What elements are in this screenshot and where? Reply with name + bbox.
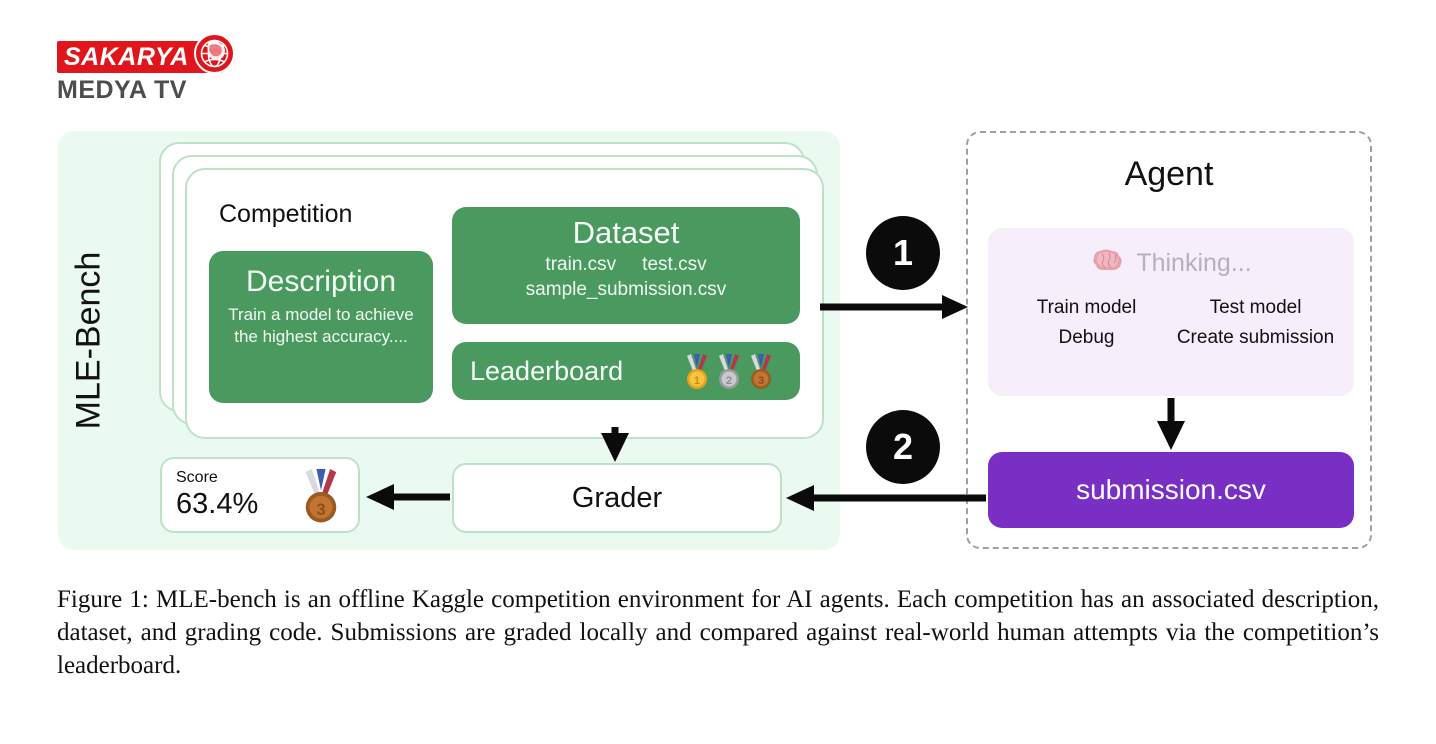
score-text-group: Score 63.4% <box>176 469 298 521</box>
mle-bench-label: MLE-Bench <box>58 131 120 550</box>
competition-title: Competition <box>219 200 352 229</box>
grader-label: Grader <box>572 482 662 515</box>
agent-action-test-model: Test model <box>1171 297 1340 319</box>
dataset-file-test: test.csv <box>642 254 706 275</box>
grader-box: Grader <box>452 463 782 533</box>
bronze-medal-icon: 3 <box>746 352 776 390</box>
leaderboard-medals: 1 2 <box>682 352 782 390</box>
thinking-row: Thinking... <box>988 228 1354 281</box>
gold-medal-icon: 1 <box>682 352 712 390</box>
dataset-file-sample-submission: sample_submission.csv <box>452 277 800 302</box>
leaderboard-title: Leaderboard <box>470 356 623 387</box>
agent-action-train-model: Train model <box>1002 297 1171 319</box>
dataset-title: Dataset <box>452 217 800 250</box>
silver-medal-icon: 2 <box>714 352 744 390</box>
step-1-number: 1 <box>893 232 913 274</box>
figure-caption: Figure 1: MLE-bench is an offline Kaggle… <box>57 583 1379 682</box>
dataset-file-row-1: train.csvtest.csv <box>452 252 800 277</box>
thinking-text: Thinking... <box>1136 249 1251 278</box>
agent-action-create-submission: Create submission <box>1171 327 1340 349</box>
agent-thinking-box: Thinking... Train model Test model Debug… <box>988 228 1354 396</box>
description-title: Description <box>209 265 433 298</box>
figure-page: SAKARYA MEDYA TV <box>0 0 1436 744</box>
submission-csv-box: submission.csv <box>988 452 1354 528</box>
dataset-file-train: train.csv <box>545 254 616 275</box>
mle-bench-label-text: MLE-Bench <box>70 252 109 430</box>
step-1-badge: 1 <box>866 216 940 290</box>
svg-text:3: 3 <box>316 500 325 519</box>
svg-text:2: 2 <box>726 375 732 387</box>
svg-text:1: 1 <box>694 375 700 387</box>
description-card: Description Train a model to achieve the… <box>209 251 433 403</box>
agent-action-list: Train model Test model Debug Create subm… <box>988 297 1354 349</box>
brain-icon <box>1090 246 1124 281</box>
score-label: Score <box>176 469 298 487</box>
score-box: Score 63.4% 3 <box>160 457 360 533</box>
bronze-medal-icon: 3 <box>298 466 344 524</box>
description-body: Train a model to achieve the highest acc… <box>209 304 433 349</box>
step-2-number: 2 <box>893 426 913 468</box>
step-2-badge: 2 <box>866 410 940 484</box>
arrow-competition-to-agent <box>820 295 968 319</box>
submission-csv-label: submission.csv <box>1076 474 1266 506</box>
dataset-card: Dataset train.csvtest.csv sample_submiss… <box>452 207 800 324</box>
agent-title: Agent <box>966 155 1372 194</box>
score-value: 63.4% <box>176 488 298 521</box>
dataset-file-list: train.csvtest.csv sample_submission.csv <box>452 252 800 303</box>
leaderboard-card: Leaderboard 1 <box>452 342 800 400</box>
svg-text:3: 3 <box>758 375 764 387</box>
agent-action-debug: Debug <box>1002 327 1171 349</box>
